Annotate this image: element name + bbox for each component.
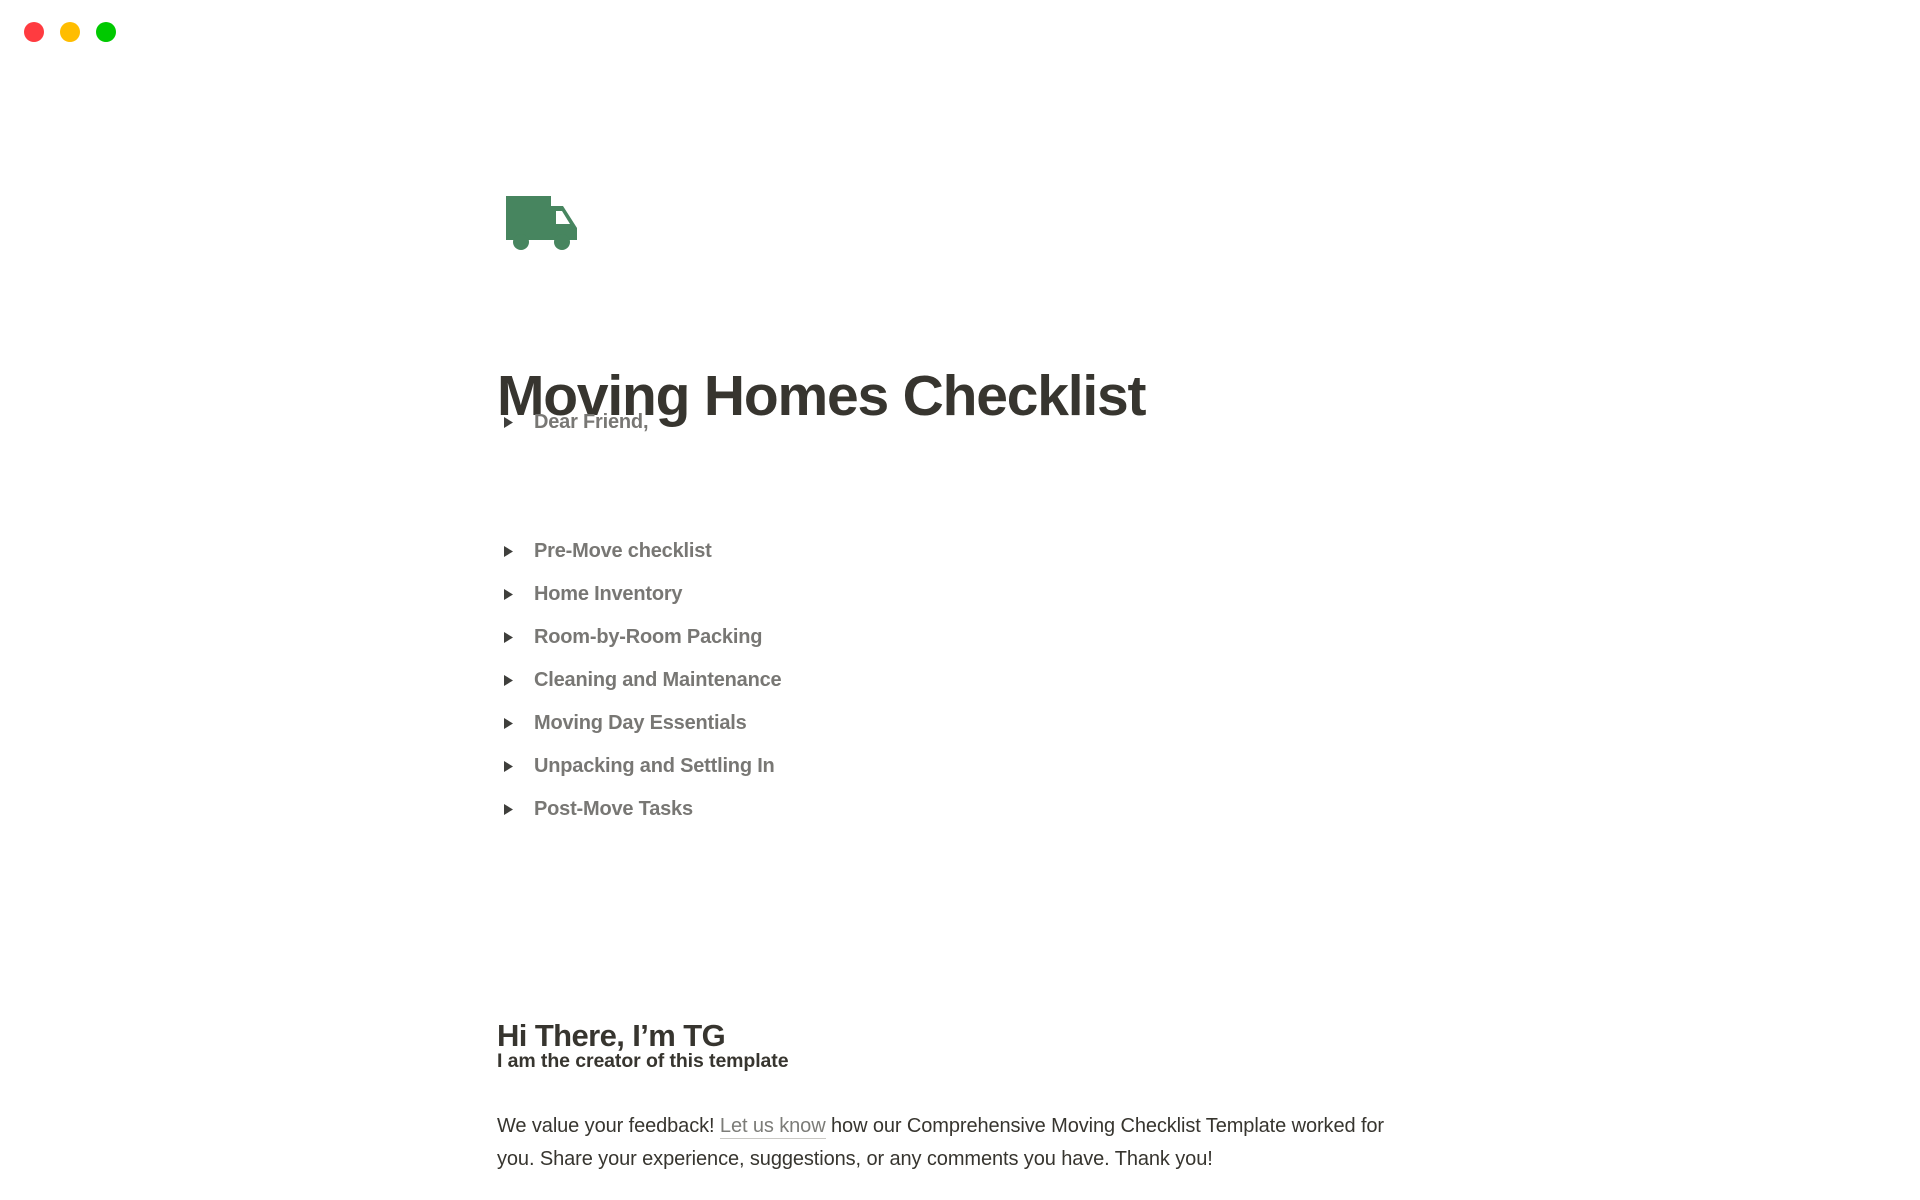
triangle-right-icon[interactable] <box>497 545 525 558</box>
traffic-light-controls <box>24 22 116 42</box>
toggle-cleaning-and-maintenance[interactable]: Cleaning and Maintenance <box>497 663 781 697</box>
minimize-button[interactable] <box>60 22 80 42</box>
toggle-post-move-tasks[interactable]: Post-Move Tasks <box>497 792 693 826</box>
triangle-right-icon[interactable] <box>497 588 525 601</box>
window-chrome <box>0 0 1920 72</box>
toggle-label: Moving Day Essentials <box>534 712 747 735</box>
triangle-right-icon[interactable] <box>497 717 525 730</box>
toggle-label: Home Inventory <box>534 583 682 606</box>
let-us-know-link[interactable]: Let us know <box>720 1115 826 1139</box>
toggle-pre-move-checklist[interactable]: Pre-Move checklist <box>497 534 712 568</box>
toggle-room-by-room-packing[interactable]: Room-by-Room Packing <box>497 620 762 654</box>
toggle-label: Dear Friend, <box>534 411 648 434</box>
author-section-subheading: I am the creator of this template <box>497 1050 788 1073</box>
author-section-heading: Hi There, I’m TG <box>497 1018 725 1054</box>
toggle-label: Room-by-Room Packing <box>534 626 762 649</box>
toggle-unpacking-and-settling-in[interactable]: Unpacking and Settling In <box>497 749 775 783</box>
paragraph-text-before-link: We value your feedback! <box>497 1115 720 1137</box>
triangle-right-icon[interactable] <box>497 760 525 773</box>
moving-truck-icon[interactable] <box>500 178 588 266</box>
triangle-right-icon[interactable] <box>497 416 525 429</box>
toggle-label: Pre-Move checklist <box>534 540 712 563</box>
triangle-right-icon[interactable] <box>497 631 525 644</box>
toggle-label: Cleaning and Maintenance <box>534 669 781 692</box>
toggle-moving-day-essentials[interactable]: Moving Day Essentials <box>497 706 747 740</box>
toggle-dear-friend[interactable]: Dear Friend, <box>497 405 648 439</box>
triangle-right-icon[interactable] <box>497 674 525 687</box>
toggle-label: Unpacking and Settling In <box>534 755 775 778</box>
triangle-right-icon[interactable] <box>497 803 525 816</box>
toggle-home-inventory[interactable]: Home Inventory <box>497 577 682 611</box>
maximize-button[interactable] <box>96 22 116 42</box>
close-button[interactable] <box>24 22 44 42</box>
feedback-paragraph: We value your feedback! Let us know how … <box>497 1110 1402 1176</box>
toggle-label: Post-Move Tasks <box>534 798 693 821</box>
